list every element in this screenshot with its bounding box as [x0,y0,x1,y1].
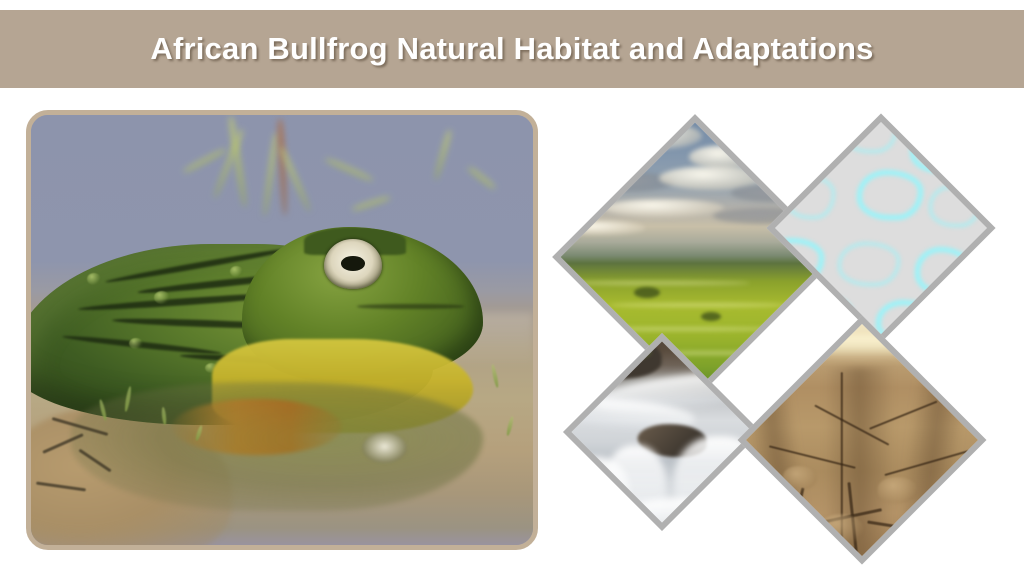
infographic-root: African Bullfrog Natural Habitat and Ada… [0,0,1024,576]
diamond-tile-cracked-earth[interactable] [738,316,987,565]
diamond-tile-water[interactable] [766,113,995,342]
habitat-diamond-collage [0,0,1024,576]
water-surface-scene [766,113,995,342]
cracked-earth-scene [738,316,987,565]
